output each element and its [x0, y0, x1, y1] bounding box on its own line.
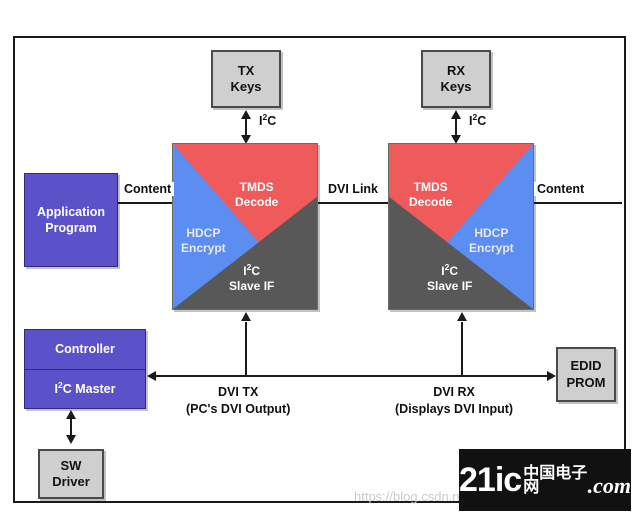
rx-keys-line1: RX — [447, 63, 465, 79]
content-right-label: Content — [534, 182, 587, 196]
dvi-rx-branch-arrow — [457, 312, 467, 321]
dvi-tx-caption: DVI TX(PC's DVI Output) — [186, 384, 290, 418]
content-left-label: Content — [121, 182, 174, 196]
watermark-brand-tld: .com — [588, 476, 631, 496]
i2c-bus-arrow-to-controller — [147, 371, 156, 381]
edid-prom-line1: EDID — [570, 358, 601, 374]
controller-upper-section: Controller — [25, 330, 145, 370]
diagram-frame — [13, 36, 626, 503]
application-line1: Application — [37, 204, 105, 220]
rx-keys-arrow-up — [451, 110, 461, 119]
content-right-line — [534, 202, 622, 204]
sw-driver-line1: SW — [61, 458, 82, 474]
i2c-bus-arrow-to-edid — [547, 371, 556, 381]
application-line2: Program — [45, 220, 96, 236]
rx-keys-line2: Keys — [440, 79, 471, 95]
tx-keys-line2: Keys — [230, 79, 261, 95]
application-program-box: Application Program — [24, 173, 118, 267]
controller-label: Controller — [55, 341, 115, 357]
receiver-tmds-label: TMDSDecode — [409, 180, 452, 210]
controller-lower-section: I2C Master — [25, 370, 145, 408]
dvi-tx-branch-line — [245, 322, 247, 376]
watermark-brand-number: 21ic — [459, 465, 521, 496]
transmitter-i2c-label: I2CSlave IF — [229, 262, 274, 294]
sw-driver-arrow-down — [66, 435, 76, 444]
dvi-link-label: DVI Link — [325, 182, 381, 196]
i2c-rx-label: I2C — [466, 112, 489, 128]
transmitter-tmds-label: TMDSDecode — [235, 180, 278, 210]
dvi-link-line — [318, 202, 388, 204]
i2c-master-label: I2C Master — [54, 380, 115, 397]
transmitter-block: TMDSDecode HDCPEncrypt I2CSlave IF — [172, 143, 318, 310]
i2c-bus-line — [156, 375, 554, 377]
transmitter-hdcp-label: HDCPEncrypt — [181, 226, 226, 256]
sw-driver-arrow-up — [66, 410, 76, 419]
sw-driver-box: SW Driver — [38, 449, 104, 499]
receiver-i2c-label: I2CSlave IF — [427, 262, 472, 294]
rx-keys-box: RX Keys — [421, 50, 491, 108]
dvi-tx-branch-arrow — [241, 312, 251, 321]
diagram-canvas: TX Keys RX Keys I2C I2C TMDSDecode HDCPE… — [0, 0, 642, 520]
receiver-block: TMDSDecode HDCPEncrypt I2CSlave IF — [388, 143, 534, 310]
tx-keys-box: TX Keys — [211, 50, 281, 108]
receiver-hdcp-label: HDCPEncrypt — [469, 226, 514, 256]
tx-keys-arrow-up — [241, 110, 251, 119]
dvi-rx-caption: DVI RX(Displays DVI Input) — [395, 384, 513, 418]
tx-keys-line1: TX — [238, 63, 255, 79]
21ic-watermark: 21ic 中国电子网 .com — [459, 449, 631, 511]
dvi-rx-branch-line — [461, 322, 463, 376]
i2c-tx-label: I2C — [256, 112, 279, 128]
edid-prom-line2: PROM — [567, 375, 606, 391]
sw-driver-line2: Driver — [52, 474, 90, 490]
edid-prom-box: EDID PROM — [556, 347, 616, 402]
controller-box: Controller I2C Master — [24, 329, 146, 409]
content-left-line — [118, 202, 172, 204]
watermark-brand-cn: 中国电子网 — [523, 467, 587, 496]
